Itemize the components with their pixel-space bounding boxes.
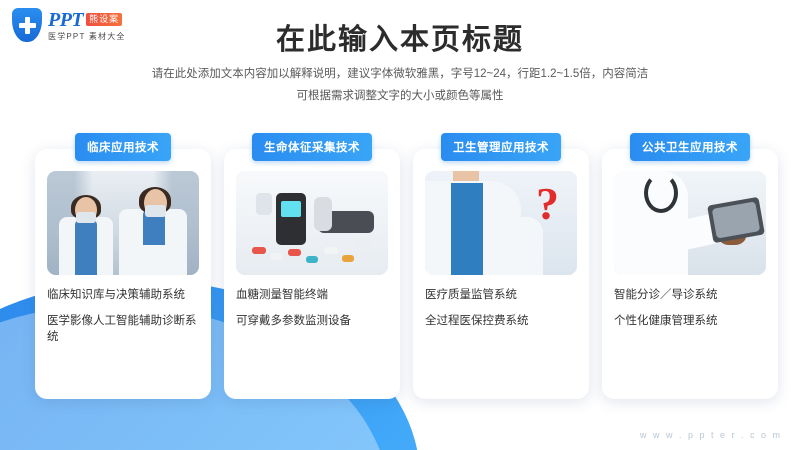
card-bullets: 医疗质量监管系统 全过程医保控费系统 xyxy=(425,287,577,329)
subtitle-line-1: 请在此处添加文本内容加以解释说明，建议字体微软雅黑，字号12~24，行距1.2~… xyxy=(0,64,800,86)
card-bullets: 血糖测量智能终端 可穿戴多参数监测设备 xyxy=(236,287,388,329)
card-panel: 智能分诊／导诊系统 个性化健康管理系统 xyxy=(602,149,778,399)
doctor-question-mark-photo: ? xyxy=(425,171,577,275)
card-tag: 公共卫生应用技术 xyxy=(630,133,750,161)
bullet-item: 个性化健康管理系统 xyxy=(614,313,766,330)
bullet-item: 医疗质量监管系统 xyxy=(425,287,577,304)
page-subtitle: 请在此处添加文本内容加以解释说明，建议字体微软雅黑，字号12~24，行距1.2~… xyxy=(0,64,800,108)
footer-watermark: w w w . p p t e r . c o m xyxy=(640,430,782,440)
card-vitals[interactable]: 生命体征采集技术 血糖测量 xyxy=(224,133,400,399)
page-title: 在此输入本页标题 xyxy=(0,16,800,58)
card-panel: ? 医疗质量监管系统 全过程医保控费系统 xyxy=(413,149,589,399)
doctor-with-tablet-photo xyxy=(614,171,766,275)
glucometer-and-pills-photo xyxy=(236,171,388,275)
bullet-item: 医学影像人工智能辅助诊断系统 xyxy=(47,313,199,346)
bullet-item: 智能分诊／导诊系统 xyxy=(614,287,766,304)
card-tag: 卫生管理应用技术 xyxy=(441,133,561,161)
card-panel: 血糖测量智能终端 可穿戴多参数监测设备 xyxy=(224,149,400,399)
bullet-item: 可穿戴多参数监测设备 xyxy=(236,313,388,330)
masked-clinicians-photo xyxy=(47,171,199,275)
bullet-item: 血糖测量智能终端 xyxy=(236,287,388,304)
card-panel: 临床知识库与决策辅助系统 医学影像人工智能辅助诊断系统 xyxy=(35,149,211,399)
card-public-health[interactable]: 公共卫生应用技术 智能分诊／导诊系统 个性化健康管理系统 xyxy=(602,133,778,399)
bullet-item: 全过程医保控费系统 xyxy=(425,313,577,330)
card-clinical[interactable]: 临床应用技术 xyxy=(35,133,211,399)
card-health-admin[interactable]: 卫生管理应用技术 ? 医疗质量监管系统 全过程医保控费系统 xyxy=(413,133,589,399)
subtitle-line-2: 可根据需求调整文字的大小或颜色等属性 xyxy=(0,86,800,108)
card-tag: 临床应用技术 xyxy=(75,133,171,161)
question-mark-icon: ? xyxy=(536,177,559,230)
bullet-item: 临床知识库与决策辅助系统 xyxy=(47,287,199,304)
card-bullets: 临床知识库与决策辅助系统 医学影像人工智能辅助诊断系统 xyxy=(47,287,199,346)
slide: PPT 熊设案 医学PPT 素材大全 在此输入本页标题 请在此处添加文本内容加以… xyxy=(0,0,800,450)
card-row: 临床应用技术 xyxy=(35,133,765,399)
card-tag: 生命体征采集技术 xyxy=(252,133,372,161)
card-bullets: 智能分诊／导诊系统 个性化健康管理系统 xyxy=(614,287,766,329)
